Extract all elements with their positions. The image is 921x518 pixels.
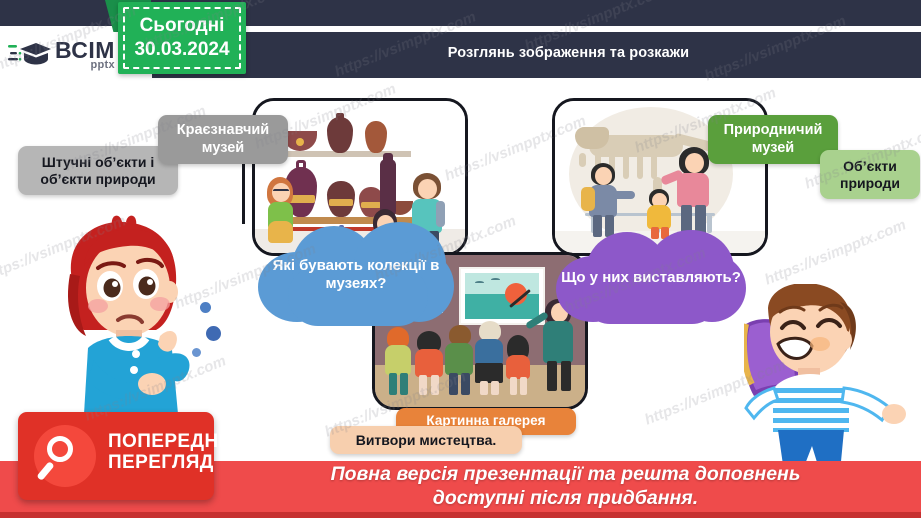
label-local-history-museum: Краєзнавчий музей <box>158 115 288 164</box>
preview-button-label: ПОПЕРЕДНІЙ ПЕРЕГЛЯД <box>108 432 238 474</box>
label-artworks: Витвори мистецтва. <box>330 426 522 454</box>
thought-cloud-exhibits-text: Що у них виставляють? <box>561 269 741 287</box>
date-badge: Сьогодні 30.03.2024 <box>118 2 246 74</box>
slide-canvas: ВСІМ pptx Сьогодні 30.03.2024 Розглянь з… <box>0 0 921 518</box>
thought-dot <box>200 302 211 313</box>
happy-boy-with-book-illustration <box>744 284 921 480</box>
thought-cloud-exhibits: Що у них виставляють? <box>556 230 746 326</box>
date-badge-value: 30.03.2024 <box>134 38 229 62</box>
label-artificial-and-nature-objects: Штучні об’єкти і об’єкти природи <box>18 146 178 195</box>
preview-button-line2: ПЕРЕГЛЯД <box>108 453 238 474</box>
graduation-cap-icon <box>8 40 52 70</box>
thought-cloud-collections: Які бувають колекції в музеях? <box>258 222 454 328</box>
date-badge-label: Сьогодні <box>140 14 225 38</box>
purchase-banner-text: Повна версія презентації та решта доповн… <box>331 463 801 511</box>
slide-title-bar: Розглянь зображення та розкажи <box>248 32 889 73</box>
thought-dot <box>206 326 221 341</box>
preview-button-line1: ПОПЕРЕДНІЙ <box>108 432 238 453</box>
thought-cloud-collections-text: Які бувають колекції в музеях? <box>258 257 454 294</box>
label-natural-history-museum: Природничий музей <box>708 115 838 164</box>
thought-dot <box>192 348 201 357</box>
magnifier-icon <box>34 425 96 487</box>
label-nature-objects: Об’єкти природи <box>820 150 920 199</box>
preview-button[interactable]: ПОПЕРЕДНІЙ ПЕРЕГЛЯД <box>18 412 214 500</box>
purchase-banner-line2: доступні після придбання. <box>331 487 801 511</box>
purchase-banner-line1: Повна версія презентації та решта доповн… <box>331 463 801 487</box>
slide-title: Розглянь зображення та розкажи <box>448 45 689 61</box>
